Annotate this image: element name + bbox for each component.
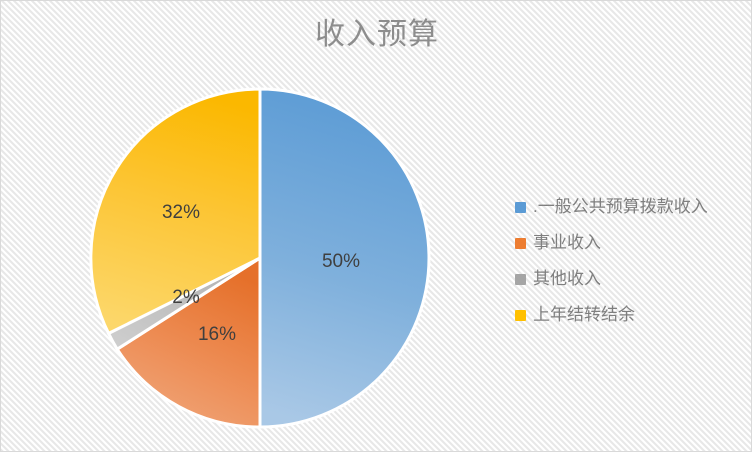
pie-label-2: 2% — [172, 287, 200, 308]
pie-label-50: 50% — [322, 251, 360, 272]
legend-swatch-icon-gray — [515, 274, 526, 285]
legend-item-other-income[interactable]: 其他收入 — [515, 261, 747, 297]
legend-swatch-icon-yellow — [515, 310, 526, 321]
pie-chart-container: 收入预算 — [0, 0, 752, 452]
pie-plot-area[interactable]: 50% 16% 2% 32% — [89, 87, 431, 429]
legend-item-general-public-budget[interactable]: .一般公共预算拨款收入 — [515, 189, 747, 225]
legend-label-general-public-budget: .一般公共预算拨款收入 — [533, 197, 708, 217]
legend-label-other-income: 其他收入 — [533, 269, 601, 289]
legend-swatch-icon-orange — [515, 238, 526, 249]
legend-label-prior-year-carryover: 上年结转结余 — [533, 305, 635, 325]
legend-swatch-icon-blue — [515, 202, 526, 213]
chart-title: 收入预算 — [1, 15, 752, 55]
chart-legend: .一般公共预算拨款收入 事业收入 其他收入 上年结转结余 — [515, 189, 747, 333]
legend-item-prior-year-carryover[interactable]: 上年结转结余 — [515, 297, 747, 333]
pie-label-32: 32% — [162, 202, 200, 223]
pie-label-16: 16% — [198, 324, 236, 345]
legend-label-operating-income: 事业收入 — [533, 233, 601, 253]
legend-item-operating-income[interactable]: 事业收入 — [515, 225, 747, 261]
pie-svg: 50% 16% 2% 32% — [89, 87, 431, 429]
